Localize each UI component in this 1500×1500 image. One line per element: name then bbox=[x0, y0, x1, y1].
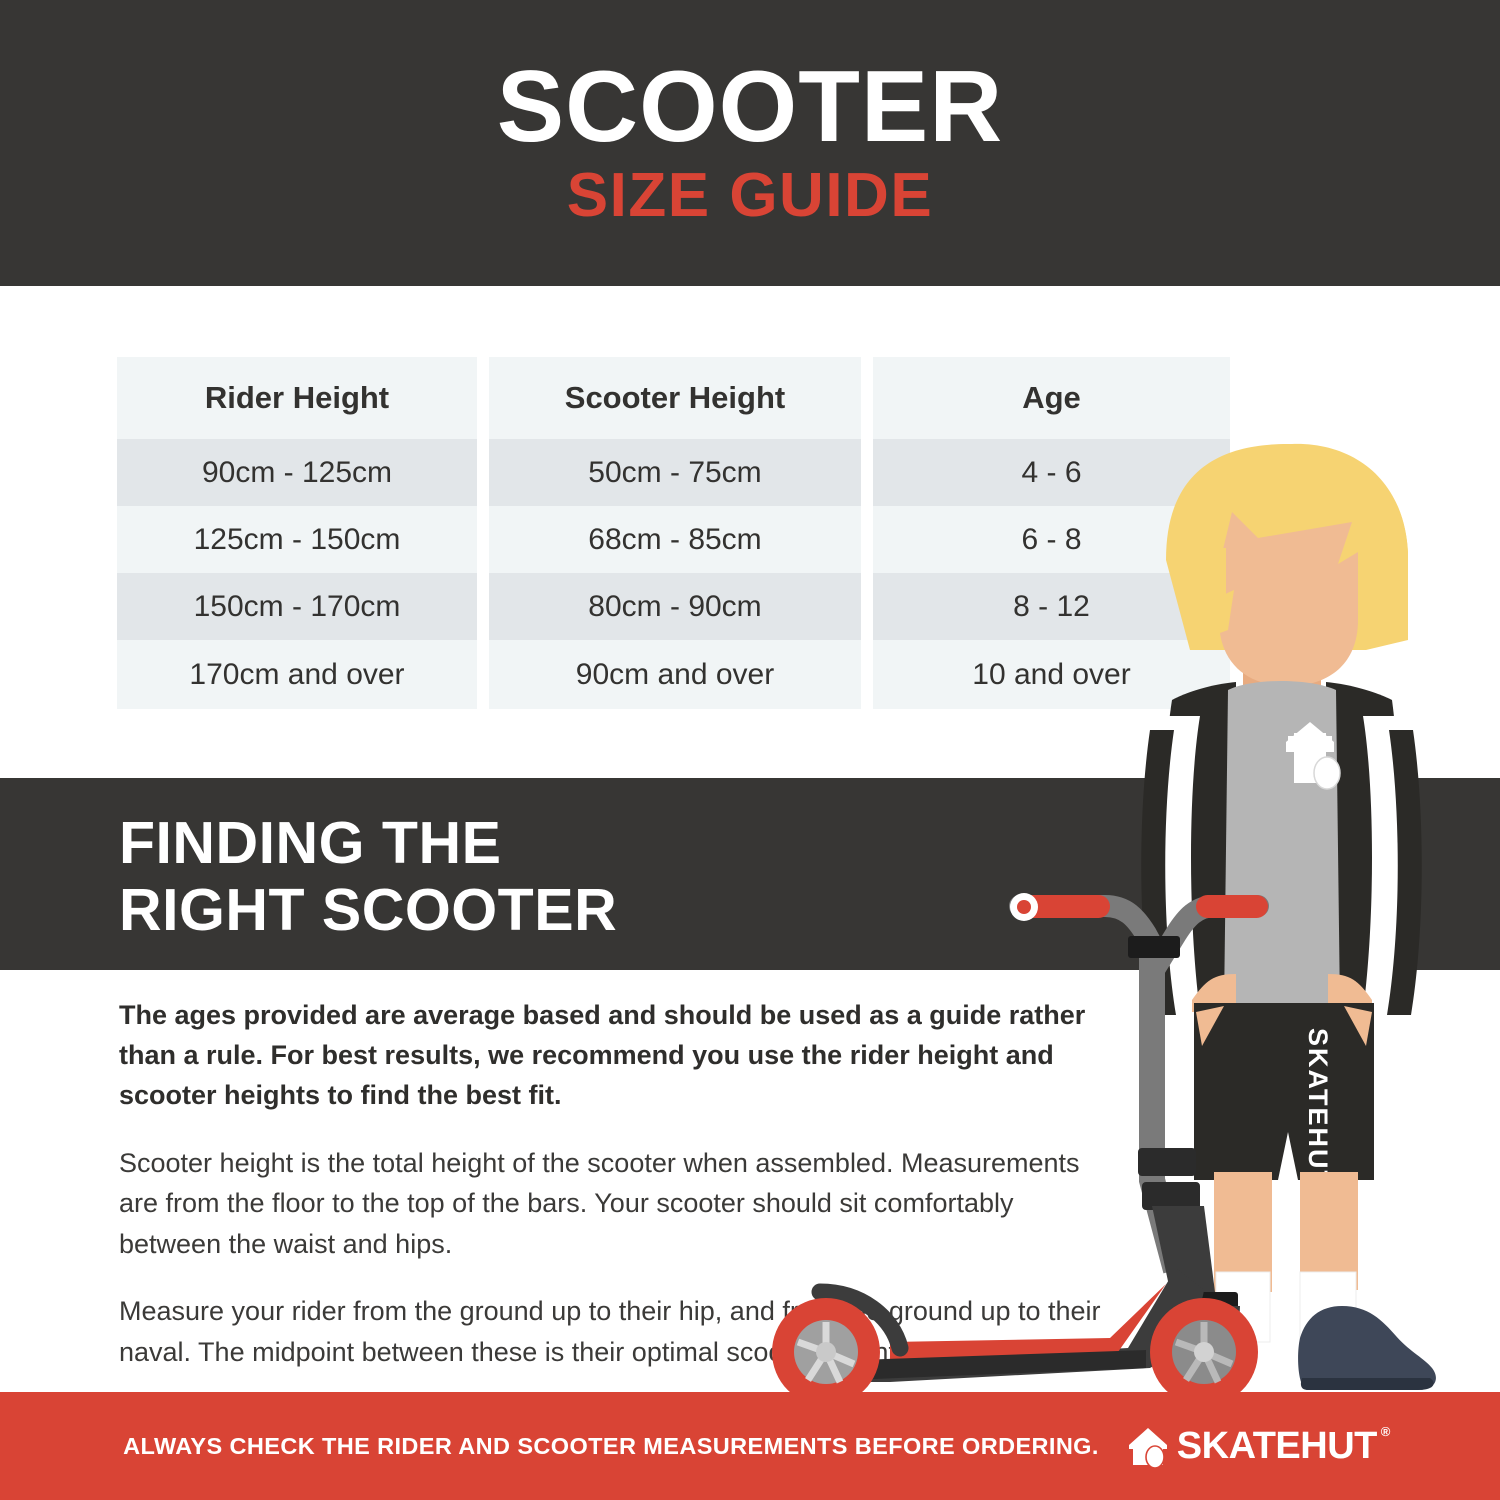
paragraph-measuring: Measure your rider from the ground up to… bbox=[119, 1291, 1109, 1372]
table-column-rider-height: Rider Height 90cm - 125cm 125cm - 150cm … bbox=[117, 357, 477, 709]
column-header: Age bbox=[873, 357, 1230, 439]
table-cell: 90cm and over bbox=[489, 640, 861, 709]
table-cell: 4 - 6 bbox=[873, 439, 1230, 506]
leg-left bbox=[1214, 1172, 1272, 1292]
size-guide-table: Rider Height 90cm - 125cm 125cm - 150cm … bbox=[117, 357, 1230, 709]
section-heading: FINDING THE RIGHT SCOOTER bbox=[119, 810, 1019, 943]
table-column-age: Age 4 - 6 6 - 8 8 - 12 10 and over bbox=[873, 357, 1230, 709]
body-copy: The ages provided are average based and … bbox=[119, 996, 1109, 1399]
table-cell: 150cm - 170cm bbox=[117, 573, 477, 640]
section-heading-line1: FINDING THE bbox=[119, 810, 1019, 877]
table-cell: 10 and over bbox=[873, 640, 1230, 709]
table-cell: 90cm - 125cm bbox=[117, 439, 477, 506]
sock-right bbox=[1300, 1272, 1356, 1344]
steerer-tube bbox=[1152, 950, 1176, 1270]
hair-fringe bbox=[1208, 444, 1408, 596]
front-axle bbox=[1194, 1342, 1214, 1362]
page-title: SCOOTER bbox=[497, 58, 1003, 157]
fork-leg bbox=[1180, 1306, 1240, 1350]
brand-logo[interactable]: SKATEHUT ® bbox=[1125, 1423, 1377, 1469]
paragraph-scooter-height: Scooter height is the total height of th… bbox=[119, 1143, 1109, 1265]
page-subtitle: SIZE GUIDE bbox=[567, 163, 933, 228]
front-wheel-hub bbox=[1172, 1320, 1236, 1384]
pocket-right bbox=[1344, 1006, 1372, 1046]
shoe-sole-right bbox=[1301, 1378, 1434, 1390]
neck bbox=[1243, 620, 1321, 706]
table-cell: 50cm - 75cm bbox=[489, 439, 861, 506]
column-header: Rider Height bbox=[117, 357, 477, 439]
table-cell: 170cm and over bbox=[117, 640, 477, 709]
sock-left bbox=[1216, 1272, 1270, 1342]
table-cell: 68cm - 85cm bbox=[489, 506, 861, 573]
shoe-right bbox=[1298, 1306, 1436, 1390]
table-cell: 80cm - 90cm bbox=[489, 573, 861, 640]
shorts bbox=[1194, 1003, 1374, 1180]
front-wheel-tyre bbox=[1150, 1298, 1258, 1406]
table-cell: 8 - 12 bbox=[873, 573, 1230, 640]
face bbox=[1219, 476, 1358, 686]
front-wheel-spokes bbox=[1176, 1322, 1232, 1382]
header-banner: SCOOTER SIZE GUIDE bbox=[0, 0, 1500, 286]
pocket-left bbox=[1196, 1006, 1224, 1046]
column-header: Scooter Height bbox=[489, 357, 861, 439]
forearm-left bbox=[1192, 974, 1236, 1012]
fork-clamp-upper bbox=[1138, 1148, 1196, 1176]
fork-clamp-lower bbox=[1142, 1182, 1200, 1210]
table-column-scooter-height: Scooter Height 50cm - 75cm 68cm - 85cm 8… bbox=[489, 357, 861, 709]
forearm-right bbox=[1328, 974, 1372, 1012]
infographic-page: SCOOTER SIZE GUIDE Rider Height 90cm - 1… bbox=[0, 0, 1500, 1500]
table-cell: 6 - 8 bbox=[873, 506, 1230, 573]
brand-name: SKATEHUT bbox=[1177, 1425, 1377, 1467]
brand-wordmark: SKATEHUT ® bbox=[1177, 1427, 1377, 1465]
section-heading-line2: RIGHT SCOOTER bbox=[119, 877, 1019, 944]
table-cell: 125cm - 150cm bbox=[117, 506, 477, 573]
footer-notice: ALWAYS CHECK THE RIDER AND SCOOTER MEASU… bbox=[123, 1433, 1099, 1460]
hut-logo-icon bbox=[1125, 1423, 1171, 1469]
shorts-brand-text: SKATEHUT bbox=[1303, 1028, 1333, 1189]
leg-right bbox=[1300, 1172, 1358, 1290]
footer-bar: ALWAYS CHECK THE RIDER AND SCOOTER MEASU… bbox=[0, 1392, 1500, 1500]
fork-bottom-clamp bbox=[1166, 1292, 1238, 1310]
fork-lower bbox=[1152, 1206, 1216, 1300]
paragraph-bold: The ages provided are average based and … bbox=[119, 996, 1109, 1116]
registered-mark: ® bbox=[1381, 1425, 1390, 1438]
